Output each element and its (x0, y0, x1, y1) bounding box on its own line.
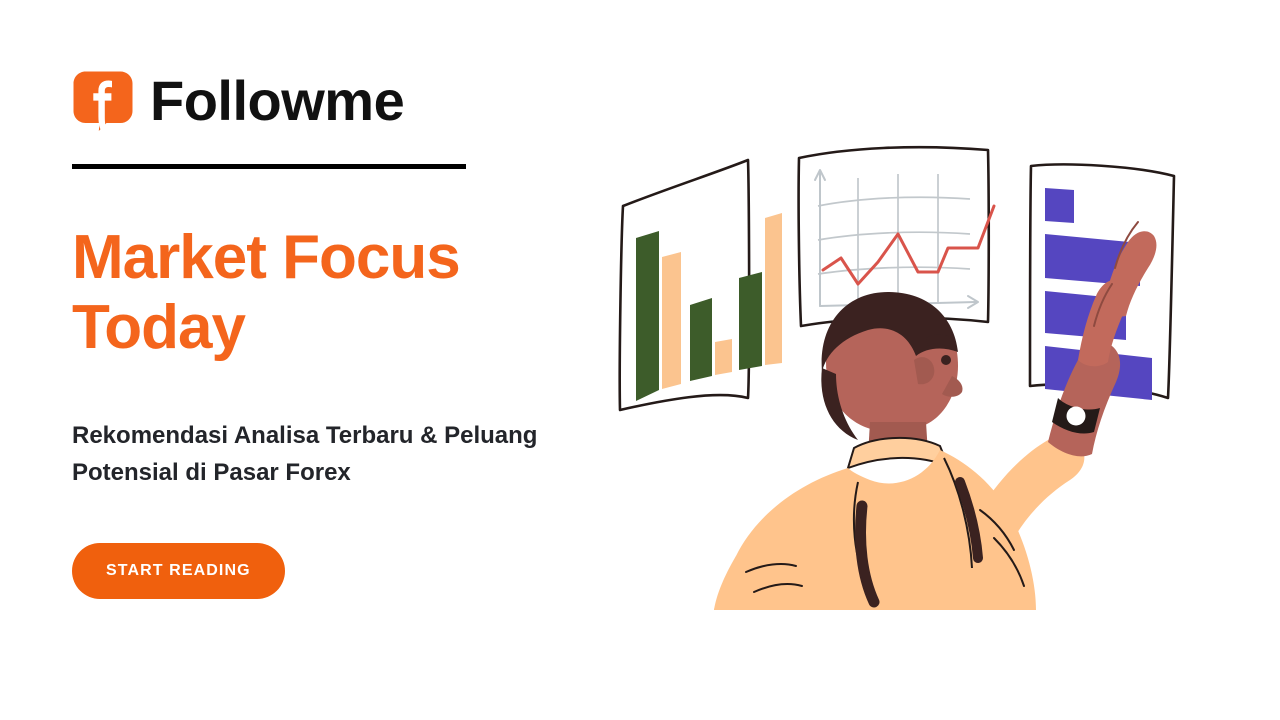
start-reading-button[interactable]: START READING (72, 543, 285, 599)
doc-block-1 (1045, 188, 1074, 223)
market-charts-illustration (596, 110, 1216, 610)
bar-chart-panel (620, 160, 782, 410)
hero-subtitle: Rekomendasi Analisa Terbaru & Peluang Po… (72, 417, 552, 491)
followme-logo-icon (72, 70, 134, 132)
page-title: Market Focus Today (72, 223, 542, 363)
brand-lockup: Followme (72, 64, 592, 138)
brand-name: Followme (150, 73, 404, 129)
market-focus-banner: Followme Market Focus Today Rekomendasi … (0, 0, 1280, 720)
brand-divider (72, 164, 466, 169)
hero-content-column: Followme Market Focus Today Rekomendasi … (72, 64, 592, 599)
